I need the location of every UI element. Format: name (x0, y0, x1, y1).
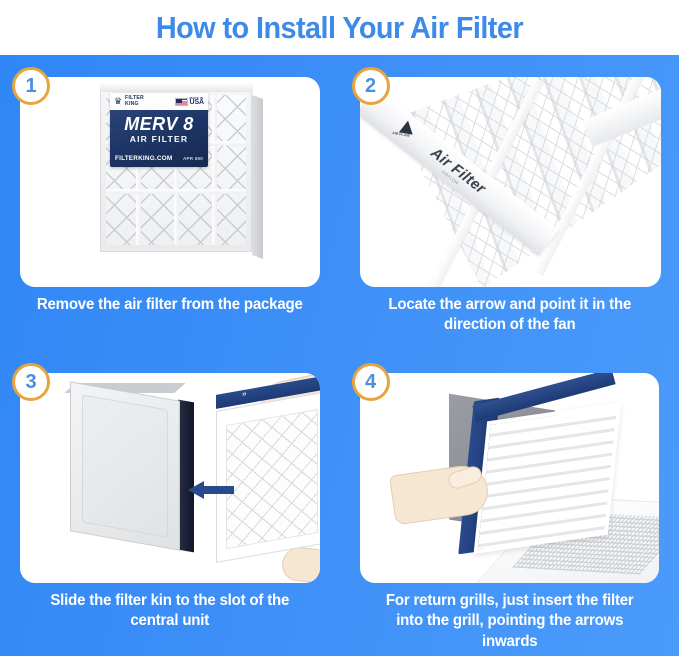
hand-lower (280, 546, 319, 583)
step-caption-1: Remove the air filter from the package (19, 295, 321, 315)
header-bar: How to Install Your Air Filter (0, 0, 679, 55)
crown-icon: ♛ (114, 97, 123, 106)
made-in-usa-badge: MADE IN USA (175, 97, 204, 107)
held-filter-arrow-marks: » (241, 388, 248, 398)
filter-corner-photo: AIR FLOW Air Filter AIRFLOW (360, 77, 662, 287)
steps-grid: ♛ FILTER KING MADE IN (0, 55, 679, 656)
slide-filter-illustration: » (20, 373, 320, 583)
caption-line: For return grills, just insert the filte… (358, 591, 660, 611)
filter-brand-label: ♛ FILTER KING MADE IN (110, 93, 208, 167)
merv-rating: MERV 8 (110, 114, 208, 135)
step-caption-3: Slide the filter kin to the slot of the … (19, 591, 321, 632)
caption-line: direction of the fan (358, 315, 660, 335)
brand-website: FILTERKING.COM (115, 155, 172, 162)
filter-king-logo: ♛ FILTER KING (114, 96, 144, 107)
step-2-image-panel: AIR FLOW Air Filter AIRFLOW (360, 77, 662, 287)
step-3-image-panel: » (20, 373, 320, 583)
caption-line: Locate the arrow and point it in the (358, 295, 660, 315)
country-text: USA (190, 99, 204, 106)
step-number-badge-3: 3 (12, 363, 50, 401)
filter-top-edge (100, 83, 253, 92)
step-4-image-panel: » (360, 373, 660, 583)
brand-name-line2: KING (125, 102, 144, 108)
caption-line: inwards (358, 632, 660, 652)
central-unit-slot (178, 400, 194, 553)
page-title: How to Install Your Air Filter (156, 10, 523, 46)
step-card-2: AIR FLOW Air Filter AIRFLOW 2 Locate the… (340, 55, 679, 351)
step-caption-4: For return grills, just insert the filte… (358, 591, 660, 652)
step-number-badge-4: 4 (352, 363, 390, 401)
caption-line: Slide the filter kin to the slot of the (19, 591, 321, 611)
filter-side-edge (252, 95, 263, 259)
step-card-4: » 4 For return grills, just insert the f… (340, 351, 679, 656)
apr-rating: APR 650 (183, 156, 203, 161)
held-filter-mesh (226, 409, 318, 549)
usa-flag-icon (175, 98, 188, 106)
step-card-1: ♛ FILTER KING MADE IN (0, 55, 340, 351)
return-grill-illustration: » (360, 373, 660, 583)
direction-arrow-icon (188, 481, 234, 499)
infographic-page: How to Install Your Air Filter (0, 0, 679, 656)
product-type: AIR FILTER (110, 134, 208, 144)
caption-line: central unit (19, 611, 321, 631)
caption-line: into the grill, pointing the arrows (358, 611, 660, 631)
step-number-badge-1: 1 (12, 67, 50, 105)
step-number-badge-2: 2 (352, 67, 390, 105)
central-unit-panel (82, 394, 168, 537)
step-caption-2: Locate the arrow and point it in the dir… (358, 295, 660, 336)
step-card-3: » 3 Slide the filter kin to the slot of … (0, 351, 340, 656)
step-1-image-panel: ♛ FILTER KING MADE IN (20, 77, 320, 287)
air-filter-product-photo: ♛ FILTER KING MADE IN (20, 77, 320, 287)
